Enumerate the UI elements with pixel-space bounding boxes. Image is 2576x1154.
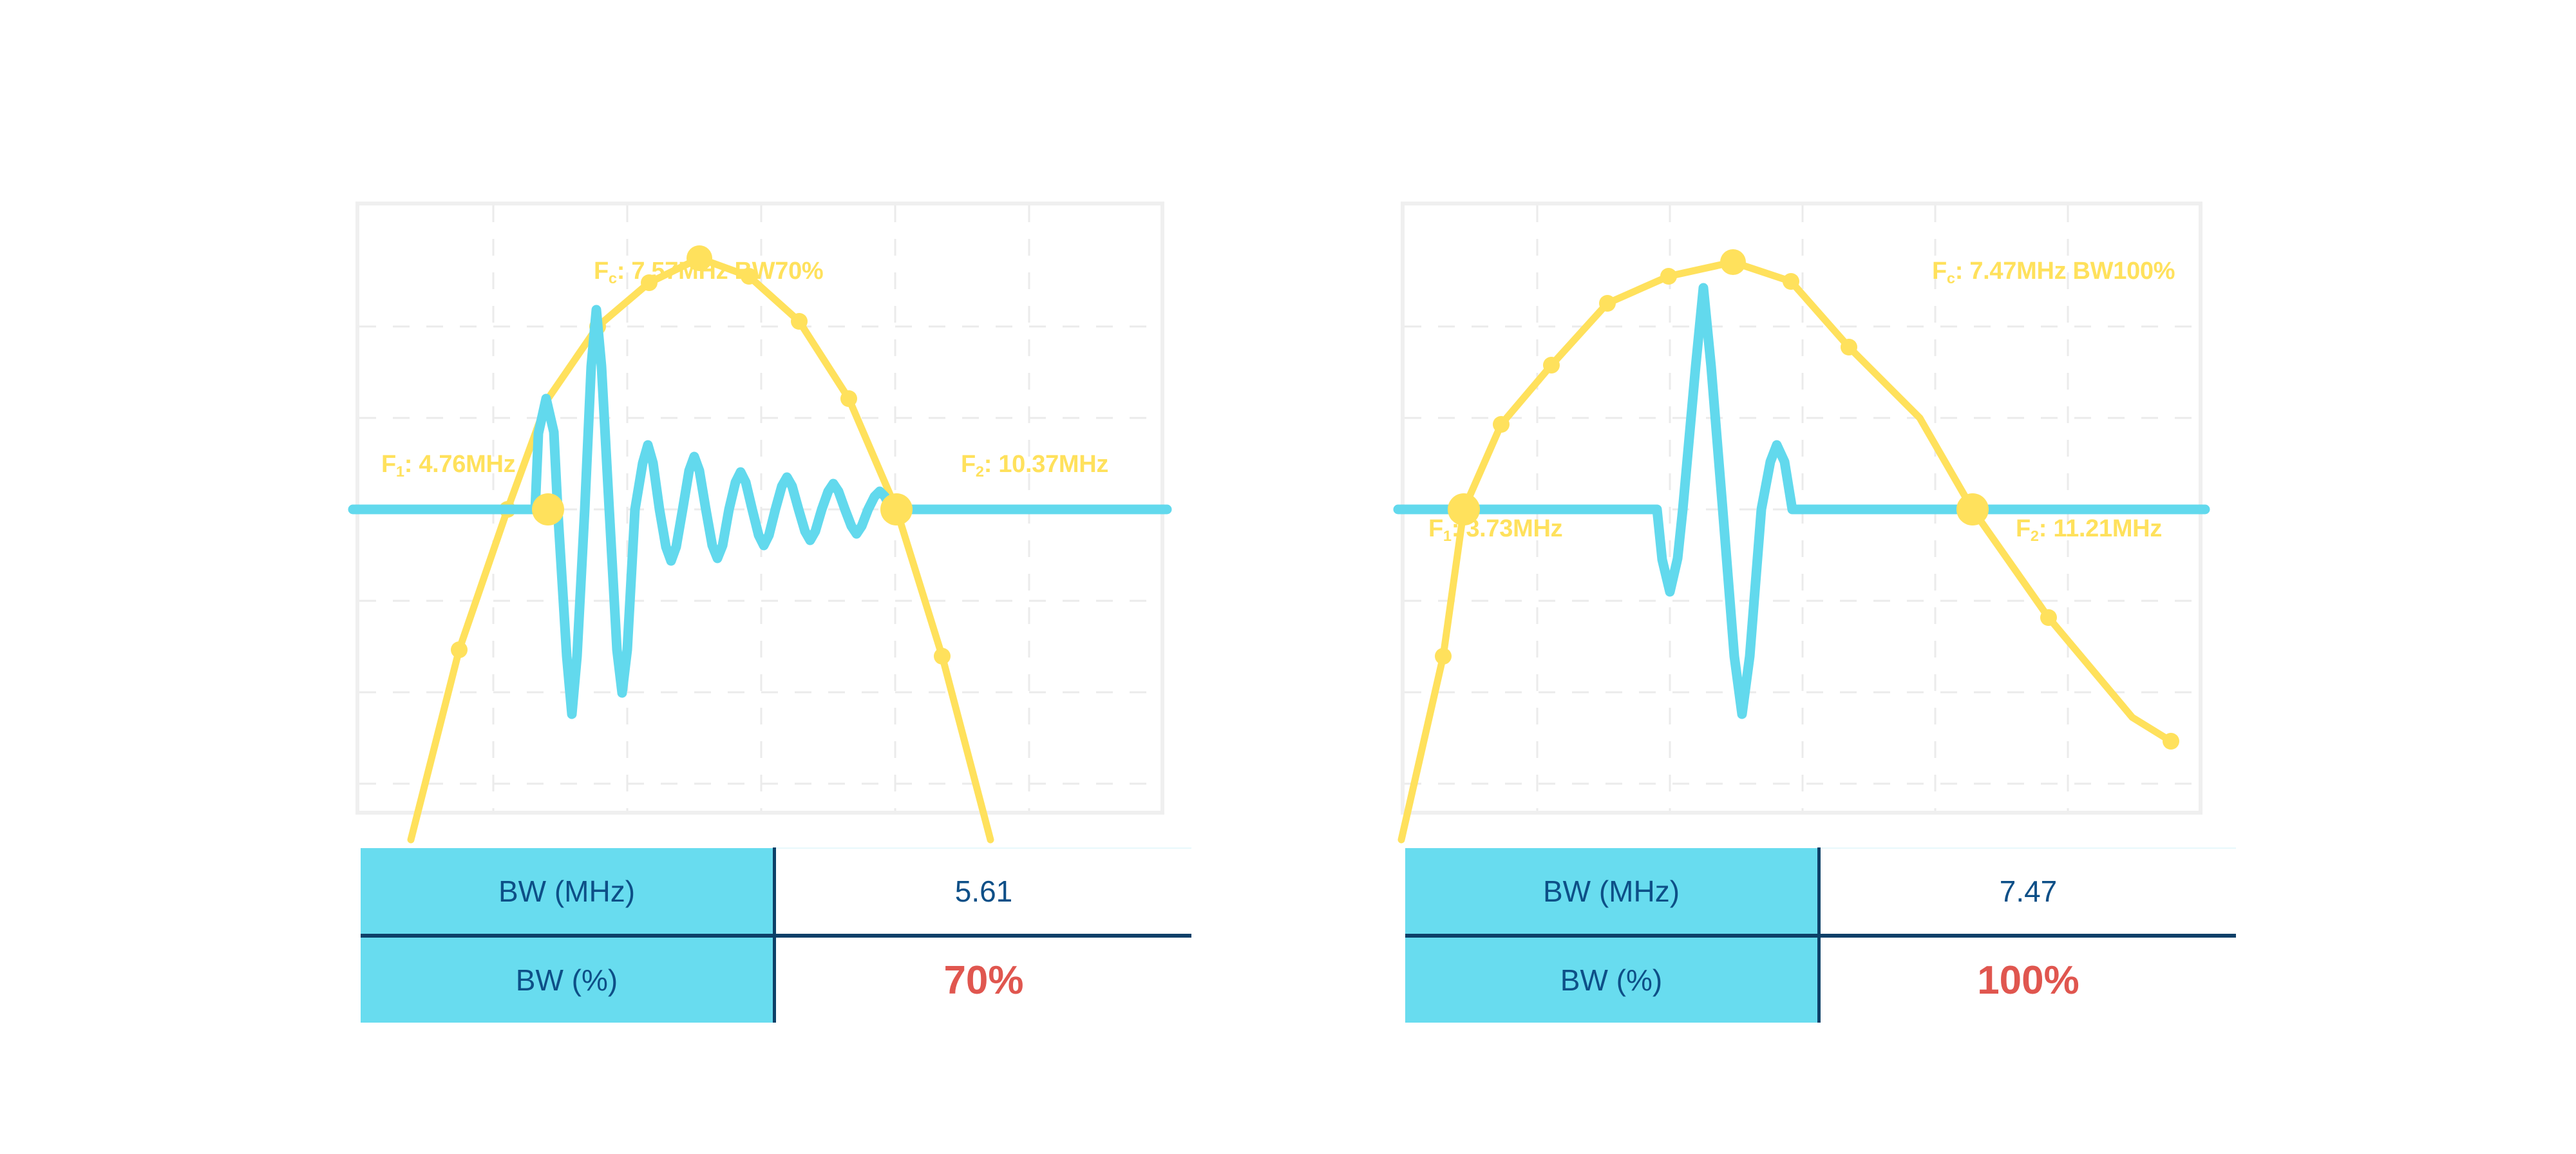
label-fc-broadband: Fc: 7.47MHz BW100%	[1932, 258, 2175, 287]
label-fc-sub: c	[1947, 270, 1955, 287]
table-value-bw-mhz: 7.47	[1819, 848, 2237, 936]
label-f2-narrowband: F2: 10.37MHz	[961, 451, 1108, 480]
table-value-bw-mhz: 5.61	[775, 848, 1192, 936]
label-fc-prefix: F	[594, 258, 609, 285]
label-f2-prefix: F	[2016, 515, 2031, 542]
bw-table-broadband: BW (MHz) 7.47 BW (%) 100%	[1405, 847, 2236, 1023]
label-f2-sub: 2	[2031, 527, 2039, 544]
table-row: BW (MHz) 5.61	[361, 848, 1191, 936]
label-f1-narrowband: F1: 4.76MHz	[381, 451, 515, 480]
table-header-bw-percent: BW (%)	[1405, 936, 1819, 1023]
chart-narrowband	[355, 202, 1164, 815]
label-f1-sub: 1	[1443, 527, 1452, 544]
panel-broadband: Fc: 7.47MHz BW100% F1: 3.73MHz F2: 11.21…	[1288, 0, 2576, 1154]
table-header-bw-mhz: BW (MHz)	[1405, 848, 1819, 936]
label-fc-value: : 7.57MHz BW70%	[617, 258, 824, 285]
chart-broadband	[1401, 202, 2202, 815]
label-fc-value: : 7.47MHz BW100%	[1955, 258, 2175, 285]
table-header-bw-percent: BW (%)	[361, 936, 775, 1023]
table-row: BW (%) 100%	[1405, 936, 2236, 1023]
marker-f1-narrowband	[532, 493, 564, 525]
table-row: BW (%) 70%	[361, 936, 1191, 1023]
table-value-bw-percent: 70%	[775, 936, 1192, 1023]
label-f2-value: : 10.37MHz	[984, 451, 1108, 478]
label-f2-prefix: F	[961, 451, 976, 478]
table-value-bw-percent: 100%	[1819, 936, 2237, 1023]
label-fc-narrowband: Fc: 7.57MHz BW70%	[594, 258, 823, 287]
label-f2-sub: 2	[976, 463, 984, 480]
label-f1-value: : 4.76MHz	[404, 451, 516, 478]
chart-svg-narrowband	[359, 205, 1160, 811]
label-f1-value: : 3.73MHz	[1452, 515, 1563, 542]
marker-fc-broadband	[1720, 249, 1746, 275]
label-f2-value: : 11.21MHz	[2039, 515, 2162, 542]
table-header-bw-mhz: BW (MHz)	[361, 848, 775, 936]
marker-f2-narrowband	[880, 493, 913, 525]
label-fc-sub: c	[609, 270, 617, 287]
panel-narrowband: Fc: 7.57MHz BW70% F1: 4.76MHz F2: 10.37M…	[0, 0, 1288, 1154]
bw-table-narrowband: BW (MHz) 5.61 BW (%) 70%	[361, 847, 1191, 1023]
spectrum-curve-narrowband	[411, 258, 990, 840]
pulse-waveform-narrowband	[353, 310, 1167, 714]
label-fc-prefix: F	[1932, 258, 1947, 285]
label-f1-sub: 1	[396, 463, 404, 480]
label-f1-prefix: F	[1428, 515, 1443, 542]
chart-svg-broadband	[1405, 205, 2199, 811]
label-f2-broadband: F2: 11.21MHz	[2016, 515, 2162, 545]
spectrum-curve-broadband	[1401, 262, 2171, 840]
table-row: BW (MHz) 7.47	[1405, 848, 2236, 936]
label-f1-broadband: F1: 3.73MHz	[1428, 515, 1562, 545]
marker-f2-broadband	[1956, 493, 1989, 525]
label-f1-prefix: F	[381, 451, 396, 478]
